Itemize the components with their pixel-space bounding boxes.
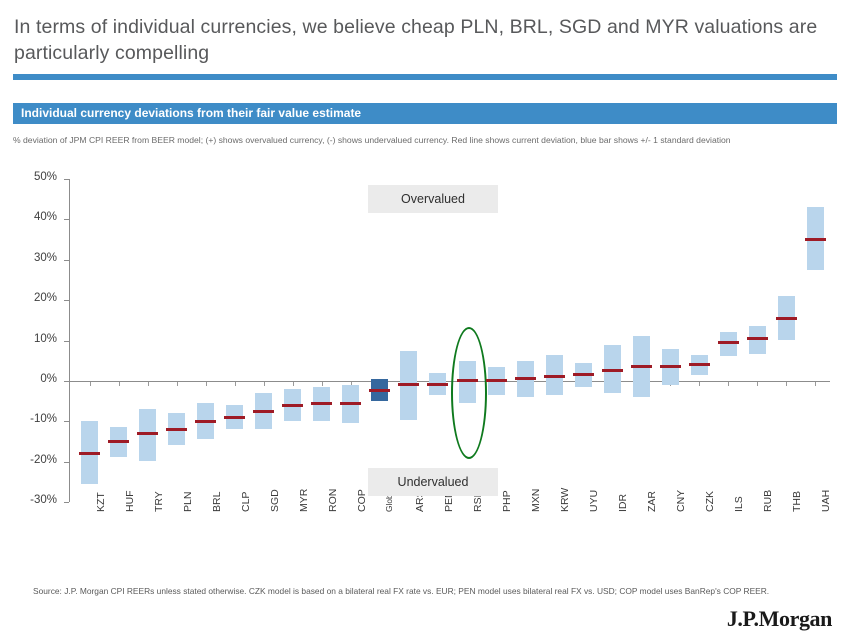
y-axis-tick — [64, 341, 69, 342]
x-axis-category-mxn: MXN — [530, 489, 542, 512]
source-note: Source: J.P. Morgan CPI REERs unless sta… — [33, 586, 793, 598]
x-axis-tick — [757, 382, 758, 386]
zero-baseline — [69, 381, 830, 382]
y-axis-tick — [64, 462, 69, 463]
current-deviation-marker-try — [137, 432, 158, 435]
y-axis-label: 0% — [11, 373, 57, 385]
x-axis-tick — [728, 382, 729, 386]
undervalued-label: Undervalued — [368, 468, 498, 496]
x-axis-tick — [815, 382, 816, 386]
current-deviation-marker-idr — [602, 369, 623, 372]
y-axis-label: 10% — [11, 333, 57, 345]
x-axis-category-cop: COP — [356, 489, 368, 512]
x-axis-tick — [264, 382, 265, 386]
x-axis-category-krw: KRW — [559, 488, 571, 512]
current-deviation-marker-clp — [224, 416, 245, 419]
slide-root: In terms of individual currencies, we be… — [0, 0, 850, 632]
x-axis-category-cny: CNY — [675, 490, 687, 512]
x-axis-category-pln: PLN — [182, 492, 194, 512]
current-deviation-marker-globalem — [369, 389, 390, 392]
current-deviation-marker-brl — [195, 420, 216, 423]
bar-ils — [720, 332, 737, 356]
x-axis-category-kzt: KZT — [95, 492, 107, 512]
x-axis-tick — [322, 382, 323, 386]
y-axis-tick — [64, 219, 69, 220]
y-axis-label: 50% — [11, 171, 57, 183]
current-deviation-marker-ars — [398, 383, 419, 386]
current-deviation-marker-mxn — [515, 377, 536, 380]
x-axis-category-uyu: UYU — [588, 490, 600, 512]
x-axis-tick — [206, 382, 207, 386]
current-deviation-marker-czk — [689, 363, 710, 366]
current-deviation-marker-pen — [427, 383, 448, 386]
current-deviation-marker-krw — [544, 375, 565, 378]
x-axis-category-rub: RUB — [762, 490, 774, 512]
x-axis-category-clp: CLP — [240, 492, 252, 512]
current-deviation-marker-kzt — [79, 452, 100, 455]
x-axis-tick — [119, 382, 120, 386]
x-axis-category-czk: CZK — [704, 491, 716, 512]
chart-plot-area: -30%-20%-10%0%10%20%30%40%50%KZTHUFTRYPL… — [0, 0, 850, 632]
x-axis-category-sgd: SGD — [269, 489, 281, 512]
y-axis-label: -30% — [11, 494, 57, 506]
x-axis-tick — [148, 382, 149, 386]
current-deviation-marker-zar — [631, 365, 652, 368]
y-axis-label: -20% — [11, 454, 57, 466]
x-axis-tick — [235, 382, 236, 386]
bar-rub — [749, 326, 766, 354]
y-axis-tick — [64, 260, 69, 261]
jpmorgan-logo: J.P.Morgan — [727, 606, 832, 632]
current-deviation-marker-huf — [108, 440, 129, 443]
x-axis-category-idr: IDR — [617, 494, 629, 512]
bar-try — [139, 409, 156, 461]
x-axis-category-ils: ILS — [733, 496, 745, 512]
x-axis-tick — [786, 382, 787, 386]
x-axis-tick — [699, 382, 700, 386]
current-deviation-marker-thb — [776, 317, 797, 320]
y-axis-tick — [64, 300, 69, 301]
x-axis-category-uah: UAH — [820, 490, 832, 512]
y-axis-tick — [64, 421, 69, 422]
current-deviation-marker-ron — [311, 402, 332, 405]
current-deviation-marker-php — [486, 379, 507, 382]
y-axis-tick — [64, 179, 69, 180]
current-deviation-marker-cny — [660, 365, 681, 368]
x-axis-category-myr: MYR — [298, 489, 310, 512]
x-axis-category-ron: RON — [327, 489, 339, 512]
x-axis-tick — [177, 382, 178, 386]
current-deviation-marker-rub — [747, 337, 768, 340]
overvalued-label: Overvalued — [368, 185, 498, 213]
x-axis-category-brl: BRL — [211, 492, 223, 512]
y-axis-line — [69, 179, 70, 502]
y-axis-label: 20% — [11, 292, 57, 304]
current-deviation-marker-sgd — [253, 410, 274, 413]
current-deviation-marker-uah — [805, 238, 826, 241]
x-axis-category-try: TRY — [153, 491, 165, 512]
x-axis-category-huf: HUF — [124, 490, 136, 512]
y-axis-label: -10% — [11, 413, 57, 425]
x-axis-category-zar: ZAR — [646, 491, 658, 512]
x-axis-category-thb: THB — [791, 491, 803, 512]
y-axis-label: 30% — [11, 252, 57, 264]
y-axis-label: 40% — [11, 211, 57, 223]
x-axis-tick — [90, 382, 91, 386]
current-deviation-marker-pln — [166, 428, 187, 431]
y-axis-tick — [64, 502, 69, 503]
current-deviation-marker-myr — [282, 404, 303, 407]
current-deviation-marker-ils — [718, 341, 739, 344]
highlight-ellipse — [451, 327, 487, 459]
x-axis-category-php: PHP — [501, 490, 513, 512]
x-axis-tick — [293, 382, 294, 386]
current-deviation-marker-uyu — [573, 373, 594, 376]
current-deviation-marker-cop — [340, 402, 361, 405]
